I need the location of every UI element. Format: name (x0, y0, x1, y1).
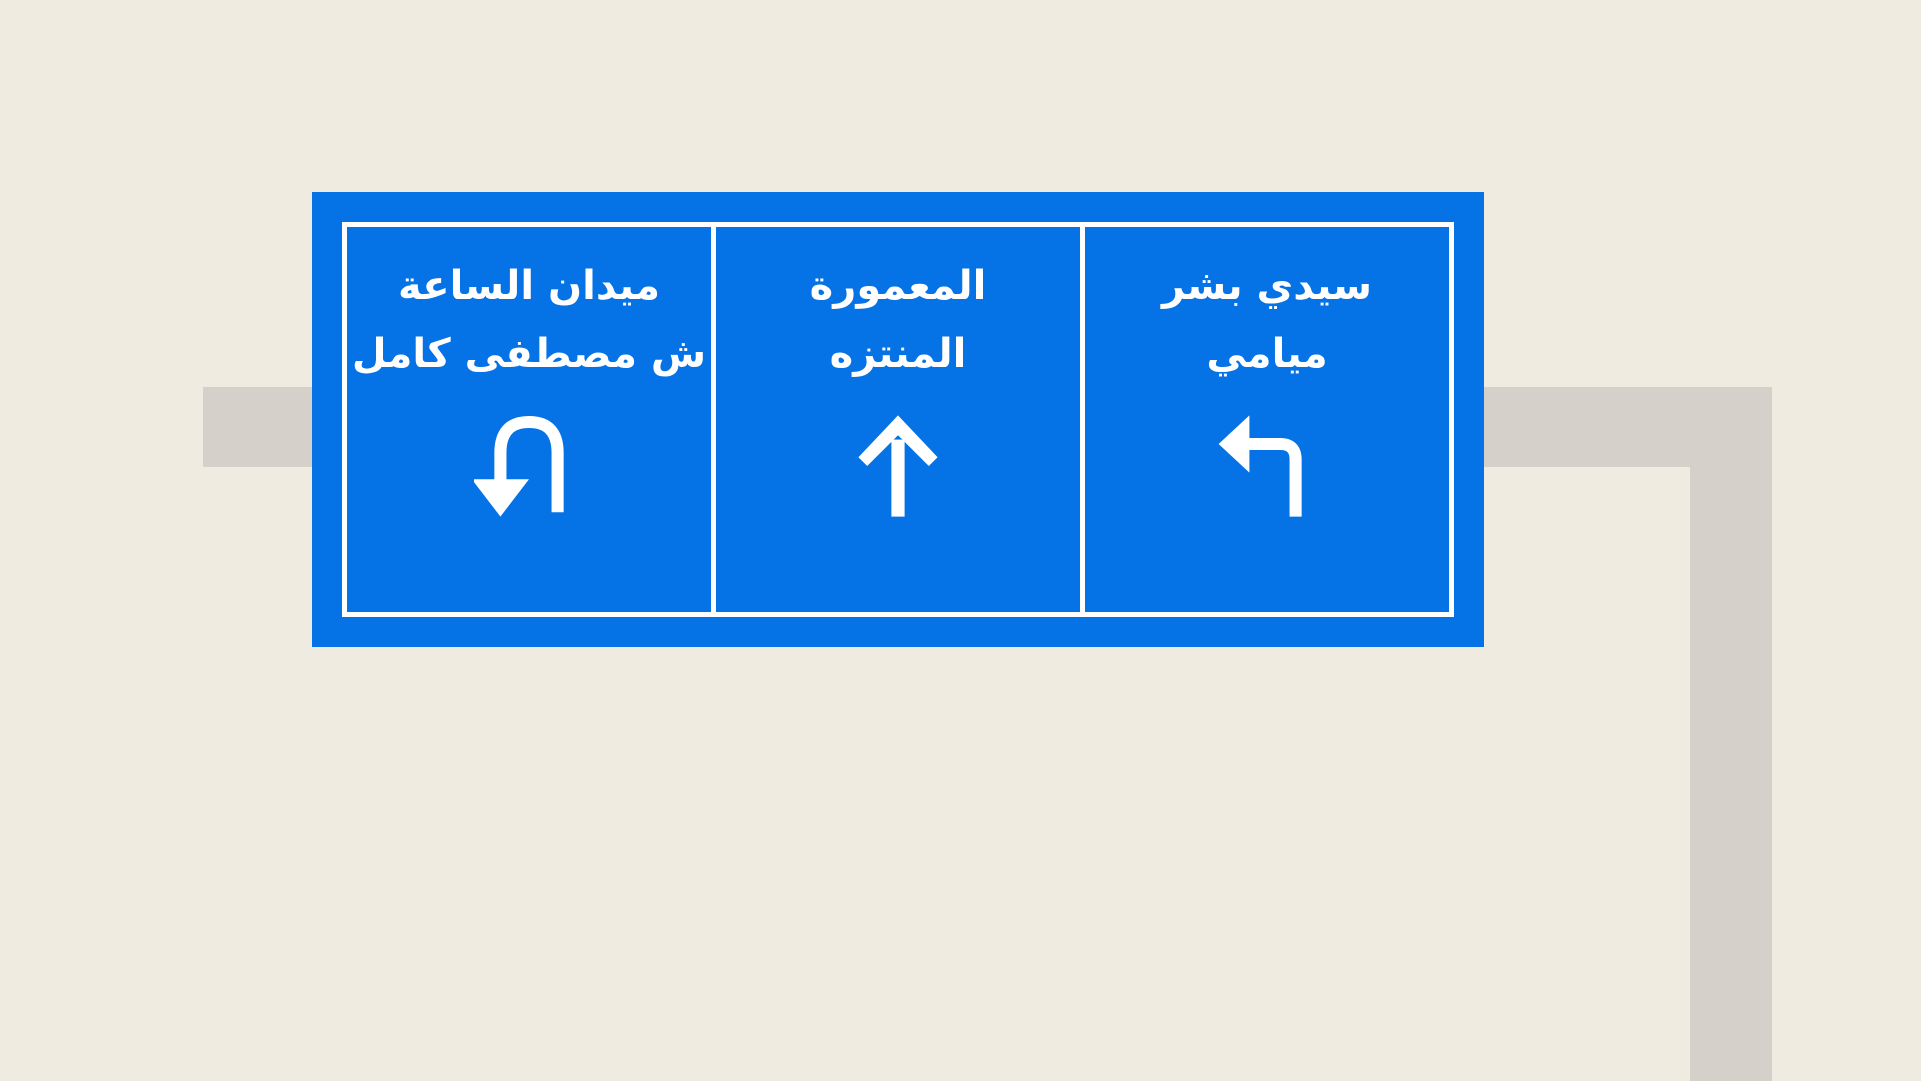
road-segment-vertical (1690, 460, 1772, 1081)
straight-up-arrow-icon (843, 411, 953, 521)
sign-panel-maamoura[interactable]: المعمورة المنتزه (716, 227, 1085, 612)
direction-sign-board: سيدي بشر ميامي المعمورة المنتزه (312, 192, 1484, 647)
sign-panel-line-2: ش مصطفى كامل (352, 327, 706, 381)
u-turn-left-arrow-icon (474, 411, 584, 521)
sign-panel-sidi-bishr[interactable]: سيدي بشر ميامي (1085, 227, 1449, 612)
sign-panel-line-1: ميدان الساعة (398, 259, 660, 313)
road-sign-scene: سيدي بشر ميامي المعمورة المنتزه (0, 0, 1921, 1081)
sign-panel-line-1: سيدي بشر (1162, 259, 1372, 313)
sign-panel-text-block: سيدي بشر ميامي (1085, 259, 1449, 381)
sign-panel-line-1: المعمورة (810, 259, 987, 313)
sign-inner-frame: سيدي بشر ميامي المعمورة المنتزه (342, 222, 1454, 617)
sign-panel-clock-square[interactable]: ميدان الساعة ش مصطفى كامل (347, 227, 716, 612)
turn-left-arrow-icon (1212, 411, 1322, 521)
sign-panel-line-2: ميامي (1206, 327, 1327, 381)
sign-panel-text-block: ميدان الساعة ش مصطفى كامل (347, 259, 711, 381)
road-segment-right (1474, 387, 1704, 467)
sign-panel-line-2: المنتزه (830, 327, 967, 381)
sign-panel-text-block: المعمورة المنتزه (716, 259, 1080, 381)
